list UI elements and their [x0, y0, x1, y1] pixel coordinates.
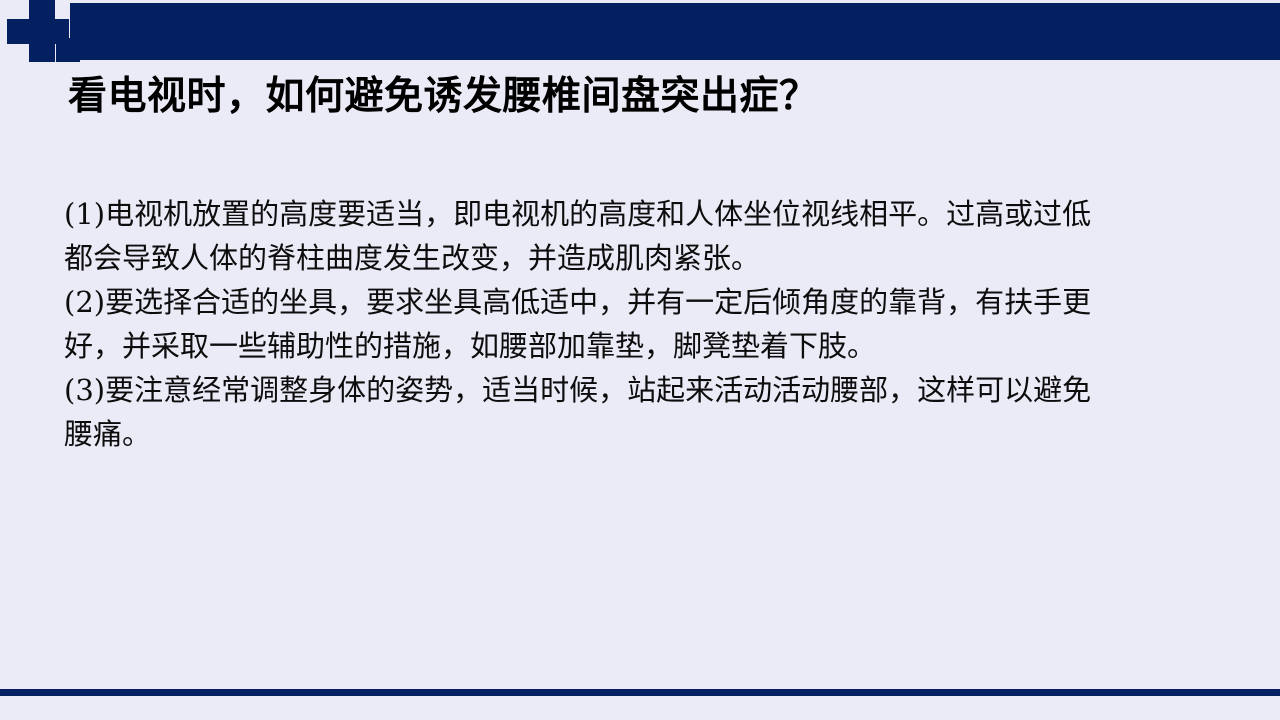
- header-accent-band: [70, 3, 1280, 60]
- header-accent-notch: [56, 38, 80, 62]
- body-line: (3)要注意经常调整身体的姿势，适当时候，站起来活动活动腰部，这样可以避免: [64, 368, 1229, 412]
- body-line: 都会导致人体的脊柱曲度发生改变，并造成肌肉紧张。: [64, 236, 1229, 280]
- body-text-block: (1)电视机放置的高度要适当，即电视机的高度和人体坐位视线相平。过高或过低 都会…: [64, 192, 1229, 456]
- footer-divider-rule: [0, 689, 1280, 696]
- body-line: (2)要选择合适的坐具，要求坐具高低适中，并有一定后倾角度的靠背，有扶手更: [64, 280, 1229, 324]
- body-line: (1)电视机放置的高度要适当，即电视机的高度和人体坐位视线相平。过高或过低: [64, 192, 1229, 236]
- body-line: 好，并采取一些辅助性的措施，如腰部加靠垫，脚凳垫着下肢。: [64, 324, 1229, 368]
- body-line: 腰痛。: [64, 412, 1229, 456]
- page-title: 看电视时，如何避免诱发腰椎间盘突出症？: [68, 72, 1218, 121]
- slide-canvas: 看电视时，如何避免诱发腰椎间盘突出症？ (1)电视机放置的高度要适当，即电视机的…: [0, 0, 1280, 720]
